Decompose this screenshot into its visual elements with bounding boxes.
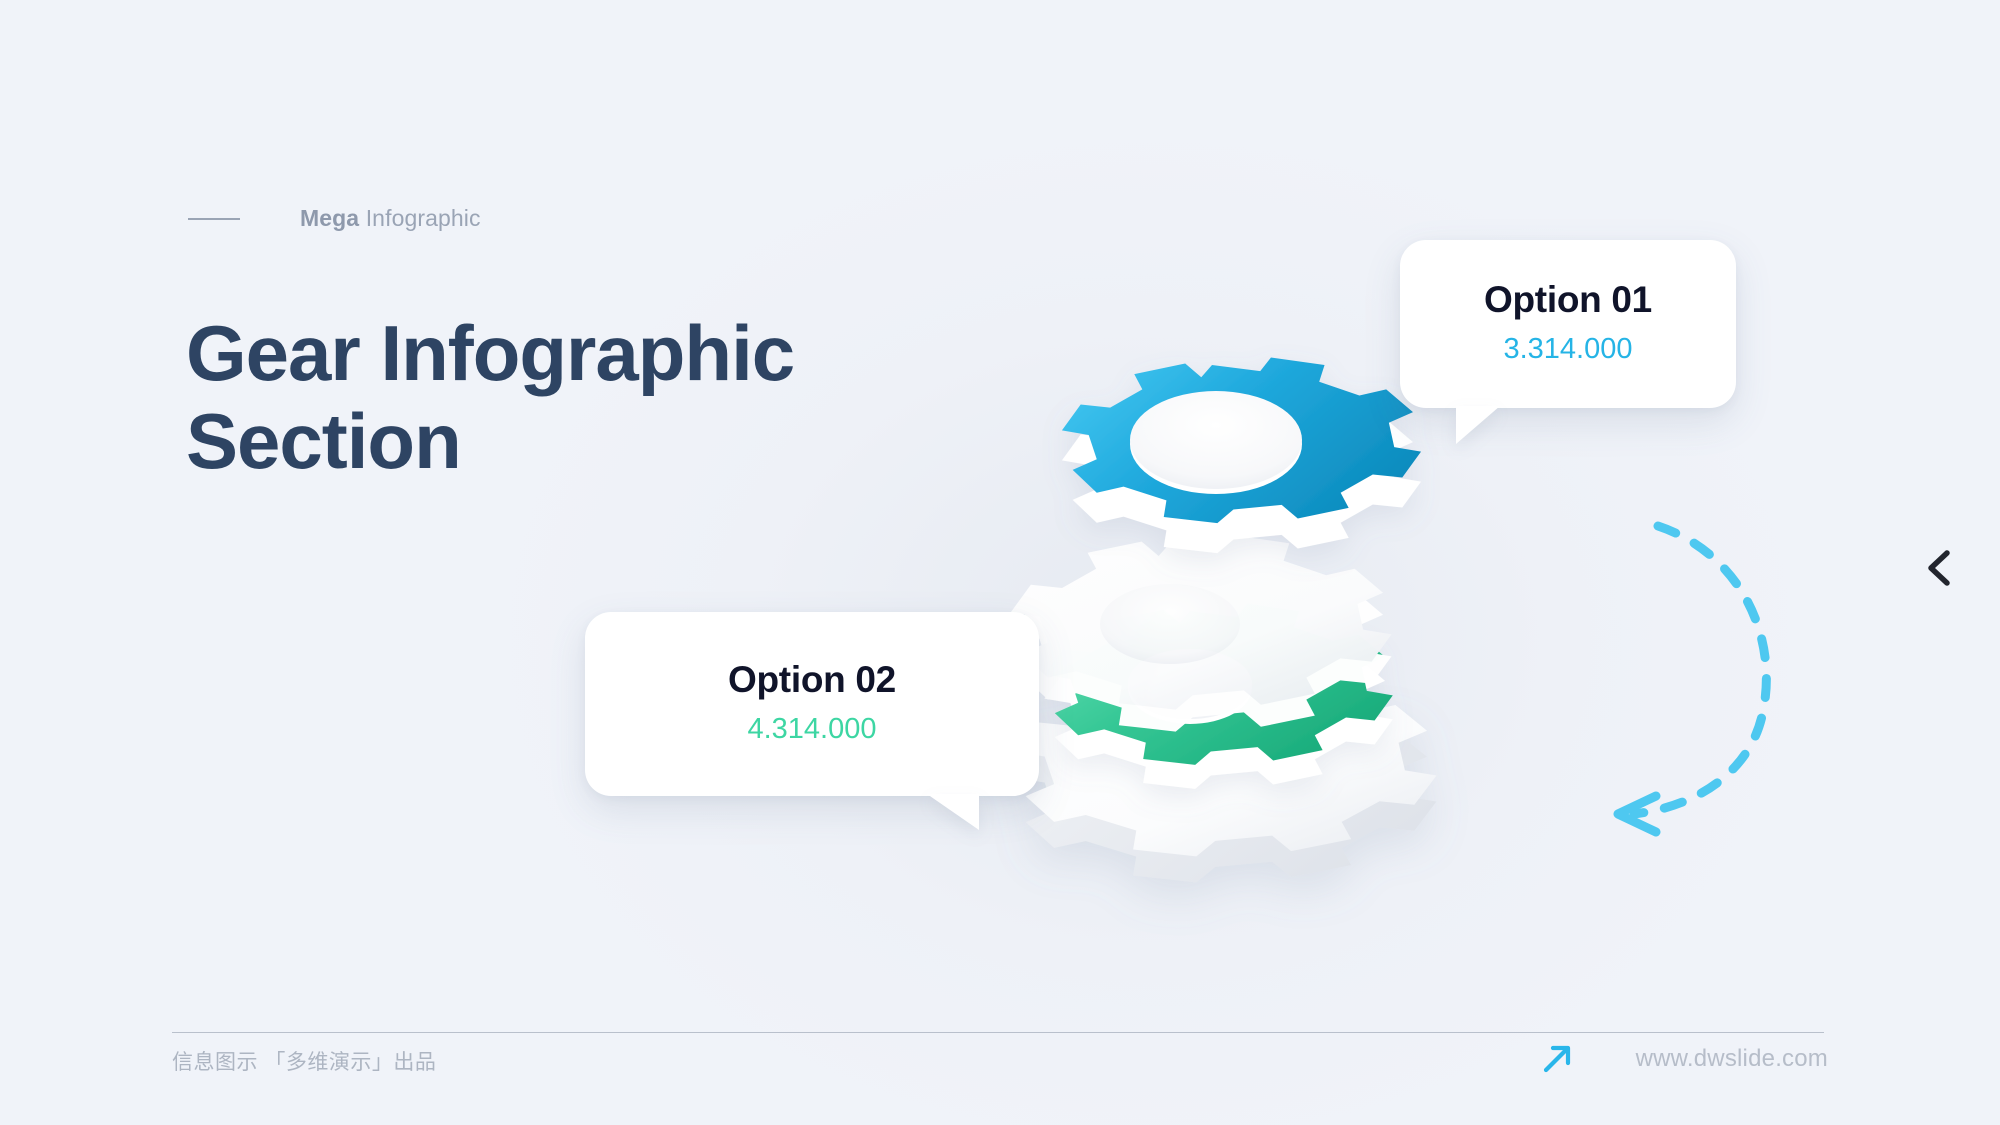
horizontal-rule-icon	[188, 218, 240, 220]
callout-option-01-tail	[1456, 406, 1500, 444]
page-title: Gear Infographic Section	[186, 310, 886, 485]
dashed-rotation-arrow-icon	[1530, 520, 1860, 840]
callout-option-02-tail	[927, 794, 979, 830]
eyebrow: Mega Infographic	[188, 205, 481, 232]
chevron-left-icon[interactable]	[1920, 545, 1960, 591]
callout-option-01-value: 3.314.000	[1400, 332, 1736, 367]
footer-url[interactable]: www.dwslide.com	[1636, 1045, 1828, 1073]
footer-divider	[172, 1032, 1824, 1033]
page-title-line-1: Gear Infographic	[186, 310, 886, 397]
arrow-up-right-icon	[1540, 1042, 1574, 1076]
page-title-line-2: Section	[186, 398, 886, 485]
eyebrow-strong: Mega	[300, 205, 359, 231]
callout-option-01[interactable]: Option 01 3.314.000	[1400, 240, 1736, 408]
callout-option-02-label: Option 02	[585, 660, 1039, 701]
callout-option-02[interactable]: Option 02 4.314.000	[585, 612, 1039, 796]
callout-option-01-label: Option 01	[1400, 280, 1736, 321]
footer-credit: 信息图示 「多维演示」出品	[172, 1046, 436, 1076]
callout-option-02-value: 4.314.000	[585, 712, 1039, 747]
footer-link-group[interactable]: www.dwslide.com	[1540, 1042, 1828, 1076]
eyebrow-rest: Infographic	[359, 205, 480, 231]
slide-canvas: Mega Infographic Gear Infographic Sectio…	[0, 0, 2000, 1125]
eyebrow-text: Mega Infographic	[300, 205, 481, 232]
